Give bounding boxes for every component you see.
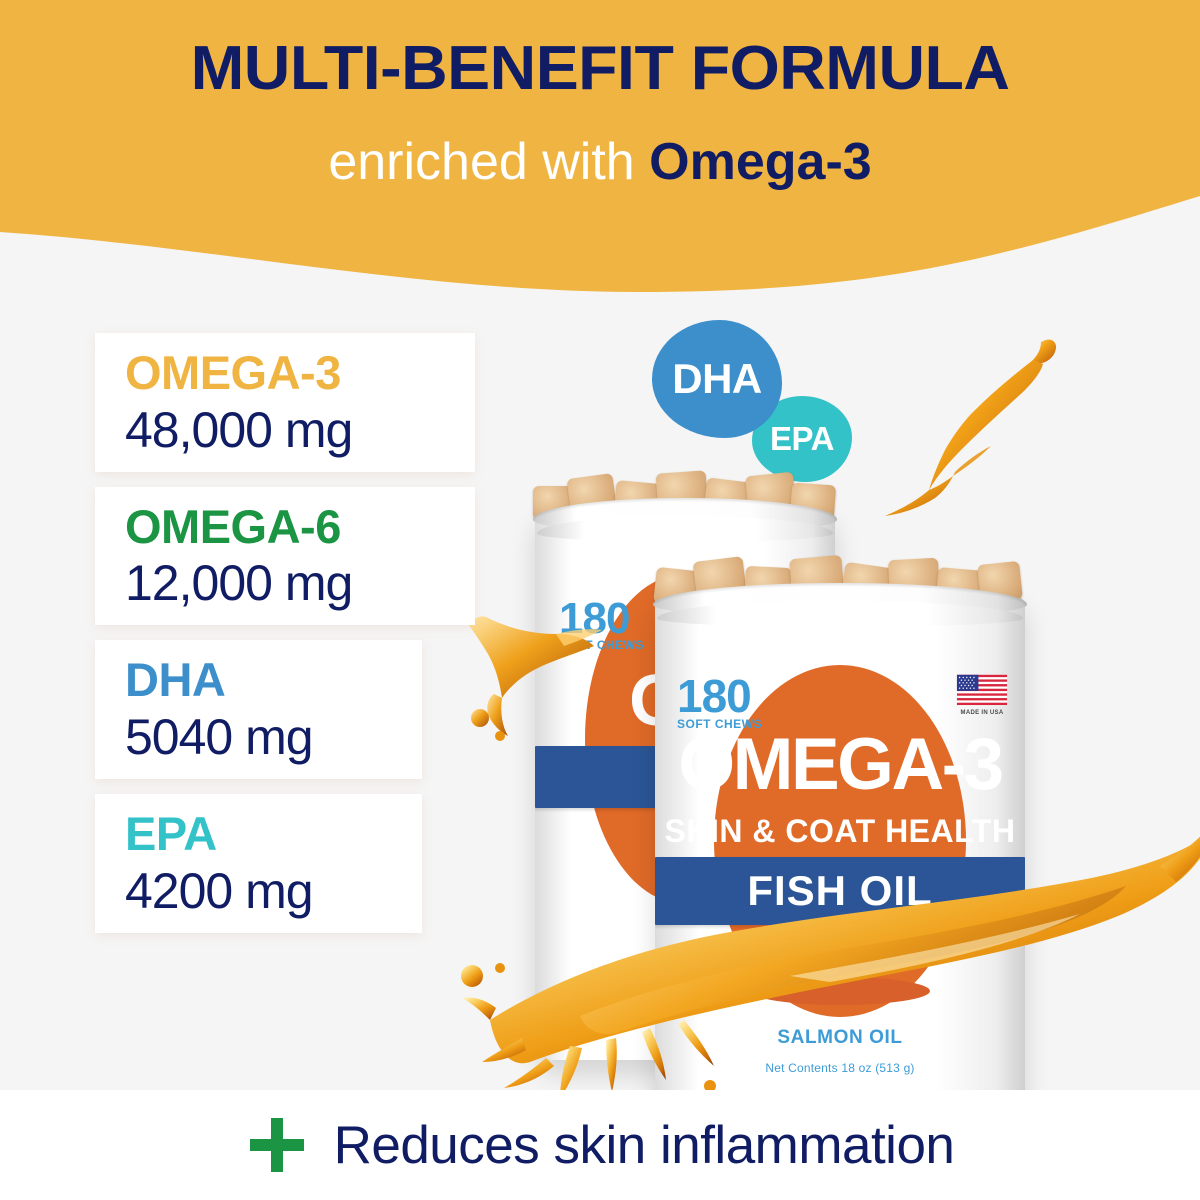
plus-icon — [246, 1114, 308, 1176]
product-image-group: DHA EPA 180 SOFT CHEWS OM SKI — [430, 300, 1200, 1090]
can-rim-inner-front — [657, 601, 1023, 627]
oil-splash-top — [845, 330, 1075, 530]
made-in-usa-label: MADE IN USA — [955, 710, 1009, 716]
can-tagline-front: SKIN & COAT HEALTH — [655, 813, 1025, 850]
subtitle-strong: Omega-3 — [649, 133, 872, 191]
subtitle-plain: enriched with — [328, 133, 649, 191]
can-band-front: FISH OIL — [655, 857, 1025, 925]
can-band-label-front: FISH OIL — [655, 857, 1025, 925]
product-can-front: 180 SOFT CHEWS — [655, 555, 1025, 1155]
dha-bubble-label: DHA — [672, 355, 762, 403]
nutrient-amount: 4200 mg — [125, 863, 422, 919]
epa-bubble-label: EPA — [770, 420, 834, 458]
nutrient-card-epa: EPA 4200 mg — [95, 794, 422, 933]
nutrient-amount: 5040 mg — [125, 709, 422, 765]
chew-count-back: 180 — [559, 594, 629, 644]
page-title: MULTI-BENEFIT FORMULA — [0, 36, 1200, 101]
can-bottom-arc — [750, 977, 930, 1005]
nutrient-name: EPA — [125, 808, 422, 861]
can-brand-front: OMEGA-3 — [655, 723, 1025, 806]
nutrient-card-omega-3: OMEGA-3 48,000 mg — [95, 333, 475, 472]
can-net-contents: Net Contents 18 oz (513 g) — [765, 1061, 914, 1075]
usa-flag-icon — [955, 673, 1009, 707]
bottom-benefit-text: Reduces skin inflammation — [334, 1115, 955, 1176]
made-in-usa-badge: MADE IN USA — [955, 673, 1009, 716]
nutrient-amount: 48,000 mg — [125, 402, 475, 458]
header-banner: MULTI-BENEFIT FORMULA enriched with Omeg… — [0, 0, 1200, 300]
page-subtitle: enriched with Omega-3 — [0, 134, 1200, 191]
nutrient-name: OMEGA-6 — [125, 501, 475, 554]
can-salmon-oil-label: SALMON OIL — [777, 1027, 902, 1049]
chew-count-label-back: SOFT CHEWS — [559, 638, 644, 652]
nutrient-card-list: OMEGA-3 48,000 mg OMEGA-6 12,000 mg DHA … — [95, 333, 475, 948]
can-body-front: 180 SOFT CHEWS — [655, 595, 1025, 1155]
nutrient-name: OMEGA-3 — [125, 347, 475, 400]
can-rim-inner-back — [537, 516, 833, 542]
chew-count-front: 180 — [677, 669, 751, 723]
dha-bubble-badge: DHA — [652, 320, 782, 438]
bottom-benefit-bar: Reduces skin inflammation — [0, 1090, 1200, 1200]
nutrient-card-omega-6: OMEGA-6 12,000 mg — [95, 487, 475, 626]
nutrient-card-dha: DHA 5040 mg — [95, 640, 422, 779]
nutrient-name: DHA — [125, 654, 422, 707]
nutrient-amount: 12,000 mg — [125, 555, 475, 611]
infographic-canvas: MULTI-BENEFIT FORMULA enriched with Omeg… — [0, 0, 1200, 1200]
